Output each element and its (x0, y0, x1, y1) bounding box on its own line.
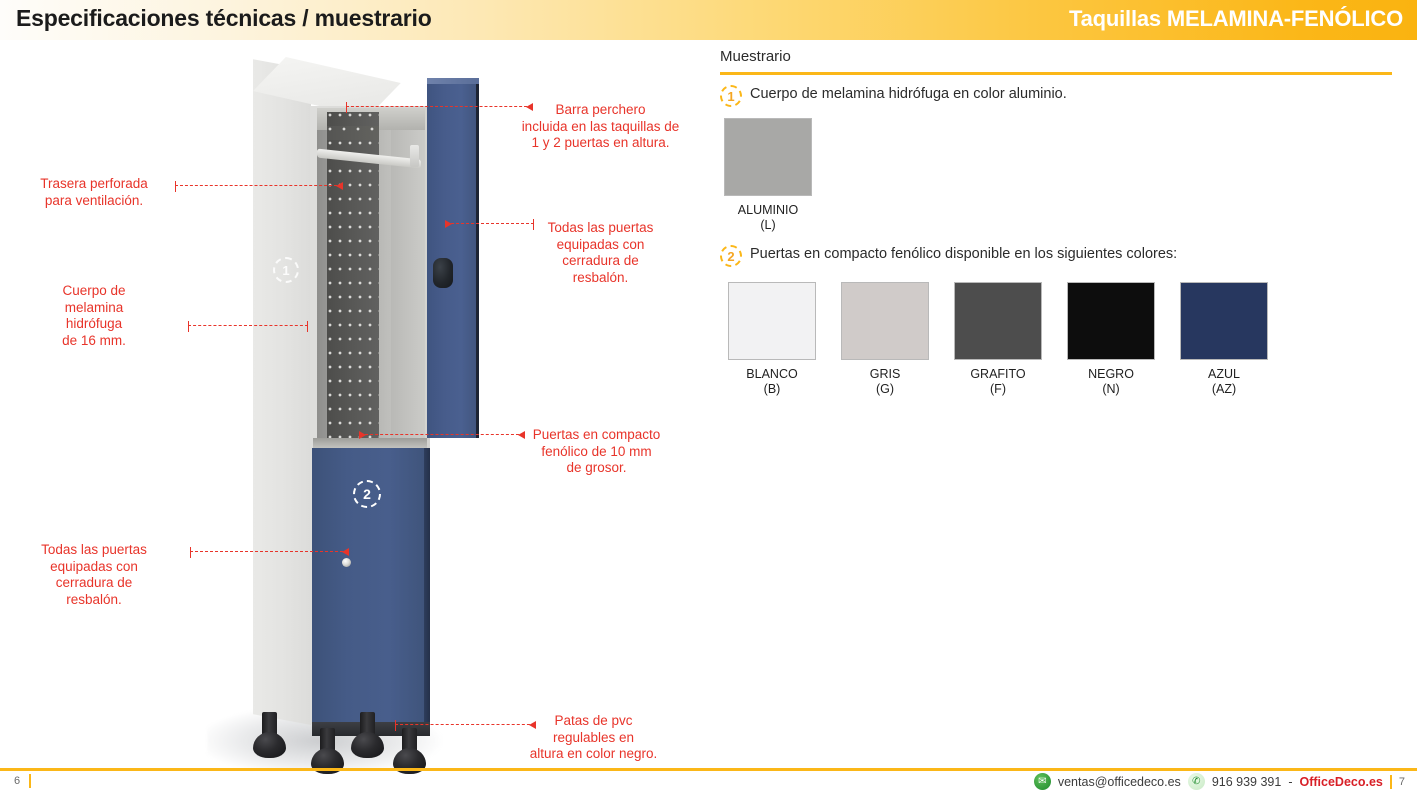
swatch-label-negro: NEGRO(N) (1056, 367, 1166, 397)
header-band: Especificaciones técnicas / muestrario T… (0, 0, 1417, 40)
swatch-name-grafito: GRAFITO (970, 367, 1025, 381)
sample-item-2-text: Puertas en compacto fenólico disponible … (750, 246, 1177, 262)
swatch-code-grafito: (F) (990, 382, 1006, 396)
footer-email[interactable]: ventas@officedeco.es (1058, 775, 1181, 789)
sample-badge-1: 1 (720, 85, 742, 107)
footer-phone: 916 939 391 (1212, 775, 1282, 789)
annotation-perforated-back: Trasera perforada para ventilación. (20, 176, 168, 209)
swatch-gris (841, 282, 929, 360)
swatch-code-gris: (G) (876, 382, 894, 396)
swatch-label-blanco: BLANCO(B) (717, 367, 827, 397)
swatch-aluminio (724, 118, 812, 196)
annotation-pvc-feet: Patas de pvc regulables en altura en col… (487, 713, 700, 763)
perforation-row (327, 126, 379, 140)
technical-drawing-panel: 1 2 Barra perchero inclui (0, 40, 710, 765)
footer-right: ✉ ventas@officedeco.es ✆ 916 939 391 - O… (1034, 773, 1405, 790)
annotation-lock-upper: Todas las puertas equipadas con cerradur… (498, 220, 703, 286)
phone-icon: ✆ (1188, 773, 1205, 790)
footer-page-right: 7 (1399, 776, 1405, 788)
swatch-code-aluminio: (L) (760, 218, 775, 232)
page-title: Especificaciones técnicas / muestrario (16, 5, 432, 32)
swatch-negro (1067, 282, 1155, 360)
annotation-doors-phenolic: Puertas en compacto fenólico de 10 mm de… (490, 427, 703, 477)
page-root: Especificaciones técnicas / muestrario T… (0, 0, 1417, 800)
swatch-name-blanco: BLANCO (746, 367, 797, 381)
footer-divider (29, 774, 31, 788)
footer-page-left: 6 (14, 775, 20, 787)
leader-line-perforated-back (175, 185, 342, 186)
swatch-code-negro: (N) (1102, 382, 1119, 396)
footer-divider (1390, 775, 1392, 789)
swatch-label-grafito: GRAFITO(F) (943, 367, 1053, 397)
annotation-body-melamine: Cuerpo de melamina hidrófuga de 16 mm. (20, 283, 168, 349)
swatch-code-azul: (AZ) (1212, 382, 1236, 396)
swatch-label-azul: AZUL(AZ) (1169, 367, 1279, 397)
locker-side-panel (253, 59, 311, 725)
footer-rule (0, 768, 1417, 771)
swatch-name-negro: NEGRO (1088, 367, 1134, 381)
swatch-code-blanco: (B) (764, 382, 781, 396)
swatch-label-aluminio: ALUMINIO(L) (713, 203, 823, 233)
swatch-name-gris: GRIS (870, 367, 901, 381)
leader-line-body-melamine (188, 325, 308, 326)
sample-panel: Muestrario 1 Cuerpo de melamina hidrófug… (718, 40, 1408, 765)
lower-door-lock (342, 558, 351, 567)
swatch-name-azul: AZUL (1208, 367, 1240, 381)
callout-badge-2: 2 (353, 480, 381, 508)
swatch-azul (1180, 282, 1268, 360)
lower-door-edge (424, 448, 430, 725)
leader-line-lock-lower (190, 551, 348, 552)
upper-door-lock-handle (433, 258, 453, 288)
email-icon: ✉ (1034, 773, 1051, 790)
swatch-label-gris: GRIS(G) (830, 367, 940, 397)
footer-left: 6 (14, 774, 31, 788)
sample-panel-rule (720, 72, 1392, 75)
footer-separator: - (1288, 775, 1292, 789)
sample-item-1-text: Cuerpo de melamina hidrófuga en color al… (750, 86, 1067, 102)
hanger-bar-bracket (410, 145, 419, 167)
annotation-lock-lower: Todas las puertas equipadas con cerradur… (20, 542, 168, 608)
sample-panel-title: Muestrario (720, 48, 791, 65)
swatch-grafito (954, 282, 1042, 360)
swatch-name-aluminio: ALUMINIO (738, 203, 798, 217)
annotation-hanger-bar: Barra perchero incluida en las taquillas… (498, 102, 703, 152)
locker-illustration: 1 2 (205, 50, 455, 770)
sample-badge-2: 2 (720, 245, 742, 267)
product-family-title: Taquillas MELAMINA-FENÓLICO (1069, 6, 1403, 32)
callout-badge-1: 1 (273, 257, 299, 283)
swatch-blanco (728, 282, 816, 360)
footer-brand[interactable]: OfficeDeco.es (1300, 775, 1383, 789)
